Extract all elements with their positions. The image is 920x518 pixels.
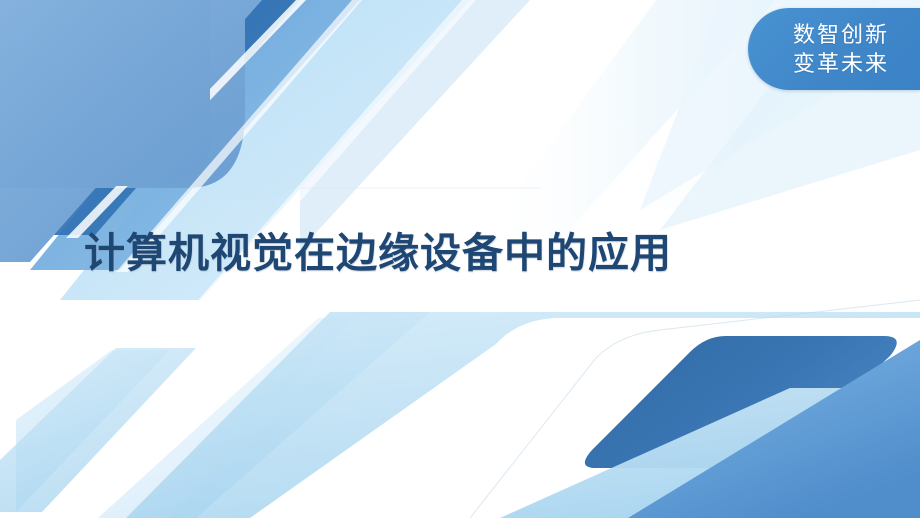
bottom-left-bands — [0, 312, 560, 518]
bottom-right-triangle — [628, 340, 920, 518]
page-title: 计算机视觉在边缘设备中的应用 — [84, 228, 784, 279]
corner-badge: 数智创新 变革未来 — [748, 8, 920, 90]
top-left-solid-block — [0, 0, 256, 186]
mid-sweep-band — [168, 312, 920, 518]
title-slide: 数智创新 变革未来 计算机视觉在边缘设备中的应用 — [0, 0, 920, 518]
bottom-right-light-band — [500, 388, 900, 518]
badge-line-1: 数智创新 — [793, 20, 889, 49]
title-block: 计算机视觉在边缘设备中的应用 — [84, 228, 784, 279]
bottom-right-parallelogram — [585, 336, 897, 468]
badge-line-2: 变革未来 — [793, 49, 889, 78]
